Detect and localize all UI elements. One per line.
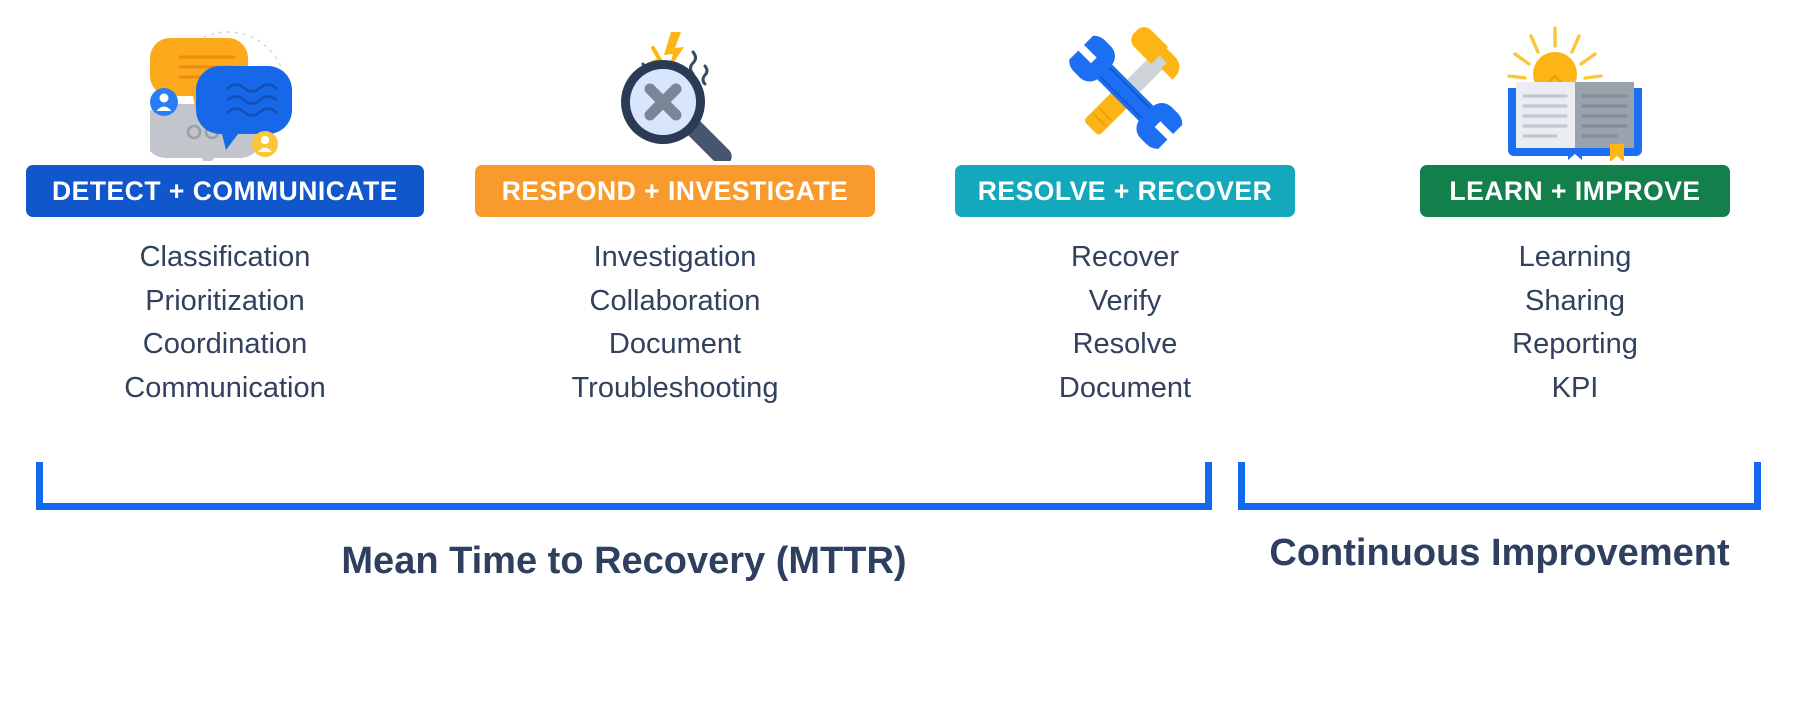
wrench-hammer-icon — [900, 0, 1350, 165]
phase-item: Prioritization — [145, 285, 305, 319]
phase-item: Investigation — [594, 241, 757, 275]
bracket-continuous-improvement — [1238, 462, 1761, 510]
diagram-canvas: DETECT + COMMUNICATE Classification Prio… — [0, 0, 1800, 708]
bracket-caption-mttr: Mean Time to Recovery (MTTR) — [36, 536, 1212, 586]
phase-item: Sharing — [1525, 285, 1625, 319]
phase-item: Resolve — [1073, 328, 1178, 362]
phase-banner-label: RESPOND + INVESTIGATE — [502, 178, 848, 205]
book-lightbulb-icon — [1350, 0, 1800, 165]
phase-banner-respond-investigate[interactable]: RESPOND + INVESTIGATE — [475, 165, 875, 217]
phase-item-list-learn-improve: Learning Sharing Reporting KPI — [1512, 241, 1638, 406]
phase-item: Reporting — [1512, 328, 1638, 362]
phase-item: Learning — [1519, 241, 1632, 275]
phase-banner-resolve-recover[interactable]: RESOLVE + RECOVER — [955, 165, 1295, 217]
phase-item: Recover — [1071, 241, 1179, 275]
magnifier-error-icon — [450, 0, 900, 165]
phase-item: Classification — [140, 241, 311, 275]
phase-item: Document — [609, 328, 741, 362]
phase-column-learn-improve: LEARN + IMPROVE Learning Sharing Reporti… — [1350, 0, 1800, 406]
speech-bubbles-icon — [0, 0, 450, 165]
phase-item: KPI — [1552, 372, 1599, 406]
bracket-mttr — [36, 462, 1212, 510]
phase-banner-label: DETECT + COMMUNICATE — [52, 178, 398, 205]
phase-banner-detect-communicate[interactable]: DETECT + COMMUNICATE — [26, 165, 424, 217]
phase-item: Troubleshooting — [572, 372, 779, 406]
phase-banner-label: RESOLVE + RECOVER — [978, 178, 1272, 205]
phase-item-list-detect-communicate: Classification Prioritization Coordinati… — [124, 241, 325, 406]
phase-banner-learn-improve[interactable]: LEARN + IMPROVE — [1420, 165, 1730, 217]
phase-item: Coordination — [143, 328, 307, 362]
phase-item-list-respond-investigate: Investigation Collaboration Document Tro… — [572, 241, 779, 406]
phase-item: Verify — [1089, 285, 1162, 319]
bracket-caption-continuous-improvement: Continuous Improvement — [1238, 528, 1761, 578]
phase-item-list-resolve-recover: Recover Verify Resolve Document — [1059, 241, 1191, 406]
phase-column-detect-communicate: DETECT + COMMUNICATE Classification Prio… — [0, 0, 450, 406]
phase-column-respond-investigate: RESPOND + INVESTIGATE Investigation Coll… — [450, 0, 900, 406]
phase-item: Collaboration — [590, 285, 761, 319]
phase-banner-label: LEARN + IMPROVE — [1449, 178, 1700, 205]
phase-item: Document — [1059, 372, 1191, 406]
phase-item: Communication — [124, 372, 325, 406]
phase-columns: DETECT + COMMUNICATE Classification Prio… — [0, 0, 1800, 470]
phase-column-resolve-recover: RESOLVE + RECOVER Recover Verify Resolve… — [900, 0, 1350, 406]
